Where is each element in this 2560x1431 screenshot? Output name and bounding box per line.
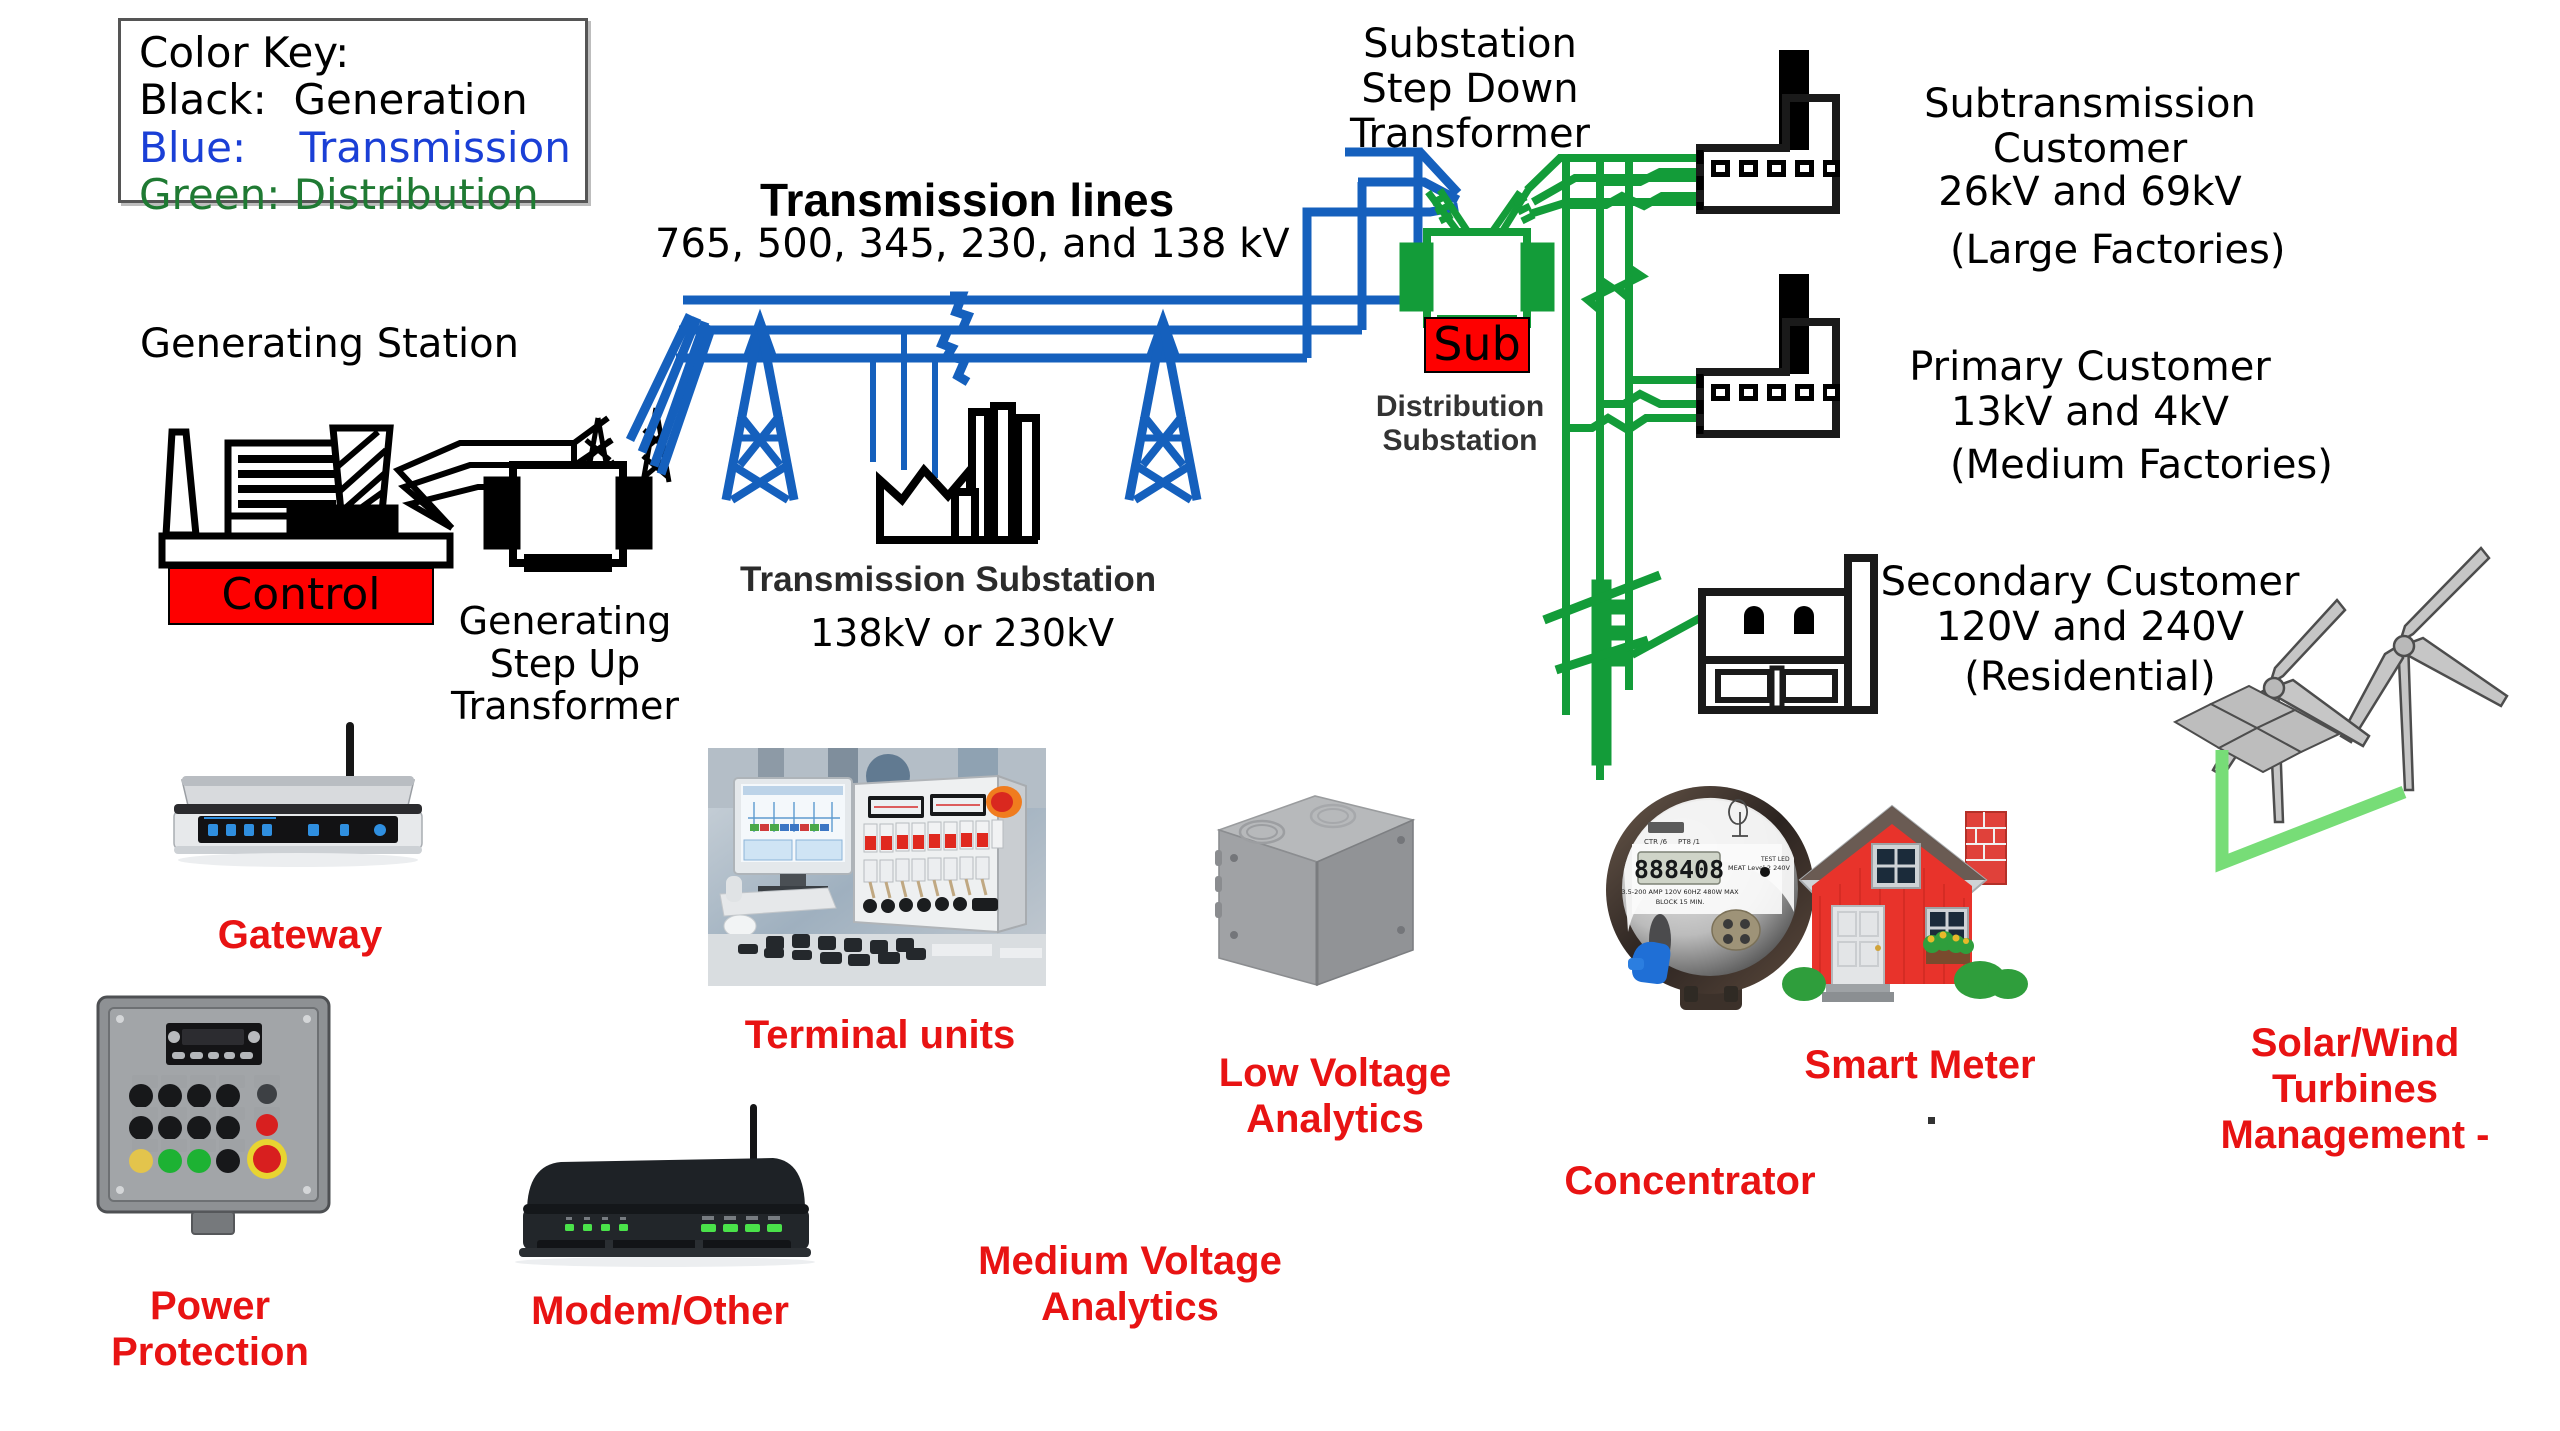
red-house-icon [1780,788,2020,1016]
residential-house-photo [1780,788,2020,1016]
medium-voltage-analytics-label: Medium Voltage Analytics [940,1238,1320,1330]
subtransmission-customer-note: (Large Factories) [1950,228,2285,273]
enclosure-box-icon [1205,780,1420,1005]
solar-wind-icon [2155,600,2555,1020]
concentrator-label: Concentrator [1530,1158,1850,1204]
smart-meter-dot [1928,1117,1935,1124]
meter-display-value: 888408 [1634,855,1724,884]
gateway-photo [168,718,428,888]
substation-drop-lines [873,330,935,478]
meter-block-line: BLOCK 15 MIN. [1656,898,1705,906]
terminal-units-label: Terminal units [700,1012,1060,1058]
transformer-bushings [1428,190,1534,232]
solar-wind-label: Solar/Wind Turbines Management - [2155,1020,2555,1158]
modem-label: Modem/Other [480,1288,840,1334]
power-protection-photo [96,995,331,1245]
primary-customer-note: (Medium Factories) [1950,443,2333,488]
subtransmission-customer-icon [1700,50,1840,210]
subtransmission-customer-name: Subtransmission Customer [1880,82,2300,172]
scada-workstation-icon [708,748,1046,986]
control-panel-icon [96,995,331,1245]
meter-left-mark: CTR /6 [1644,838,1668,846]
transmission-substation-label: Transmission Substation [740,560,1156,599]
primary-customer-name: Primary Customer [1880,345,2300,390]
smart-meter-label: Smart Meter [1760,1042,2080,1088]
primary-customer-icon [1700,274,1840,434]
transmission-substation-voltages: 138kV or 230kV [810,612,1114,655]
modem-photo [505,1100,823,1268]
wireless-router-icon [168,718,428,888]
control-badge: Control [168,567,434,625]
solar-wind-photo [2155,600,2555,1020]
low-voltage-analytics-photo [1205,780,1420,1005]
gateway-label: Gateway [150,912,450,958]
substation-step-down-transformer-icon [1403,232,1551,329]
sub-badge: Sub [1424,317,1530,373]
generating-station-label: Generating Station [140,322,519,367]
line-jumpers [938,296,978,382]
primary-customer-voltage: 13kV and 4kV [1880,390,2300,435]
transmission-lines-title: Transmission lines [760,175,1174,227]
secondary-customer-house-icon [1702,558,1874,710]
terminal-units-photo [708,748,1046,986]
generating-step-up-transformer-label: Generating Step Up Transformer [450,600,680,728]
generating-step-up-transformer-icon [487,465,649,569]
meter-right-mark: PT8 /1 [1678,838,1700,846]
substation-step-down-transformer-label: Substation Step Down Transformer [1330,22,1610,156]
low-voltage-analytics-label: Low Voltage Analytics [1190,1050,1480,1142]
power-protection-label: Power Protection [60,1283,360,1375]
subtransmission-customer-voltage: 26kV and 69kV [1880,170,2300,215]
meter-rating-line: 3.5-200 AMP 120V 60HZ 480W MAX [1621,888,1739,896]
distribution-substation-label: Distribution Substation [1345,390,1575,457]
transmission-lines-voltages: 765, 500, 345, 230, and 138 kV [655,222,1290,267]
secondary-customer-name: Secondary Customer [1860,560,2320,605]
modem-icon [505,1100,823,1268]
